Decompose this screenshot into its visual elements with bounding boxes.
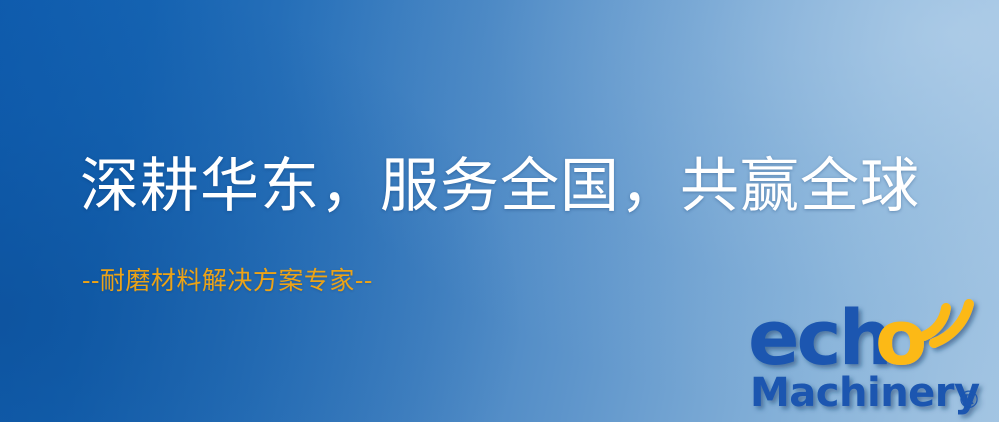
- banner-headline: 深耕华东，服务全国，共赢全球: [80, 155, 920, 217]
- logo-registered-trademark: ®: [957, 386, 981, 414]
- promo-banner: 深耕华东，服务全国，共赢全球 --耐磨材料解决方案专家-- ech o Mach…: [0, 0, 999, 422]
- banner-subtitle: --耐磨材料解决方案专家--: [82, 266, 373, 296]
- echo-machinery-logo[interactable]: ech o Machinery ®: [748, 296, 998, 422]
- echo-wave-arc-inner: [924, 308, 946, 336]
- logo-tagline: Machinery: [750, 370, 980, 416]
